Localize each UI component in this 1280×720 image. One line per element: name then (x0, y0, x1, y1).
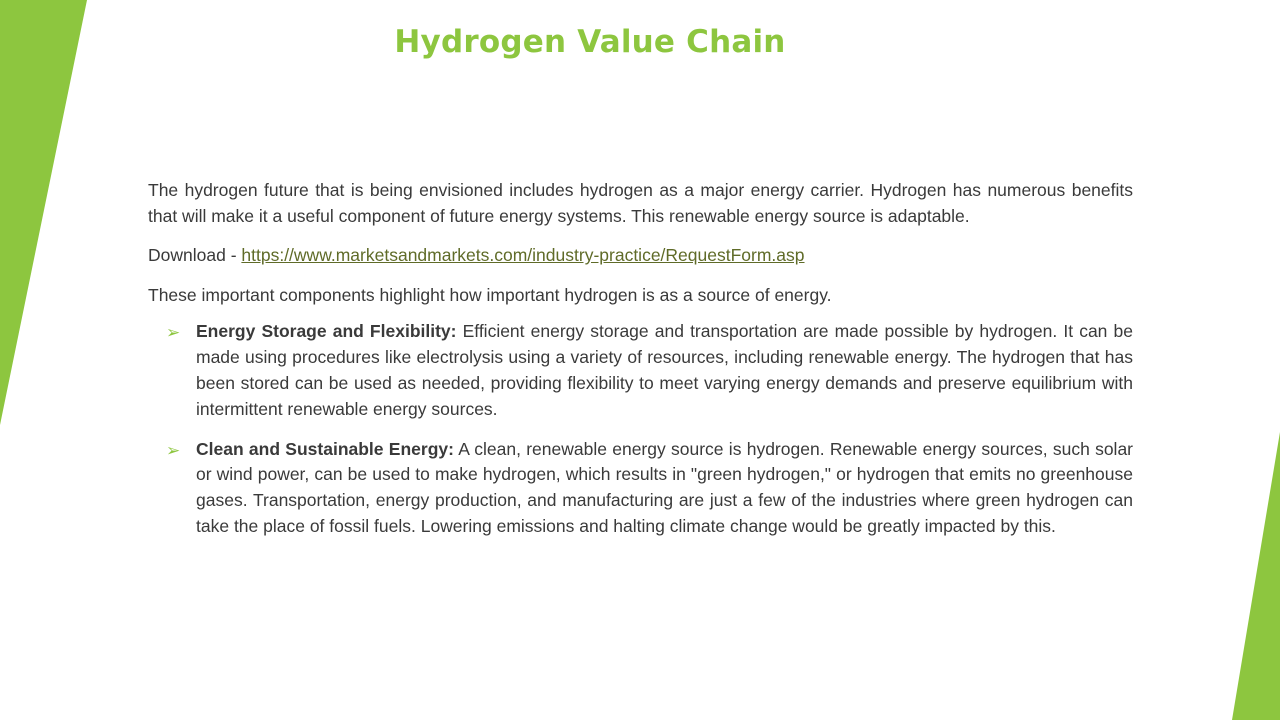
arrow-bullet-icon: ➢ (166, 438, 180, 464)
intro-paragraph: The hydrogen future that is being envisi… (148, 178, 1133, 229)
list-item: ➢ Energy Storage and Flexibility: Effici… (148, 319, 1133, 422)
download-line: Download - https://www.marketsandmarkets… (148, 243, 1133, 269)
bullet-heading: Clean and Sustainable Energy: (196, 439, 454, 459)
bullet-heading: Energy Storage and Flexibility: (196, 321, 456, 341)
page-title: Hydrogen Value Chain (0, 24, 1180, 60)
list-item: ➢ Clean and Sustainable Energy: A clean,… (148, 437, 1133, 540)
bullet-list: ➢ Energy Storage and Flexibility: Effici… (148, 319, 1133, 539)
download-label: Download - (148, 245, 241, 265)
download-link[interactable]: https://www.marketsandmarkets.com/indust… (241, 245, 804, 265)
arrow-bullet-icon: ➢ (166, 320, 180, 346)
components-line: These important components highlight how… (148, 283, 1133, 309)
slide-canvas: Hydrogen Value Chain The hydrogen future… (0, 0, 1280, 720)
slide-body: The hydrogen future that is being envisi… (148, 178, 1133, 554)
